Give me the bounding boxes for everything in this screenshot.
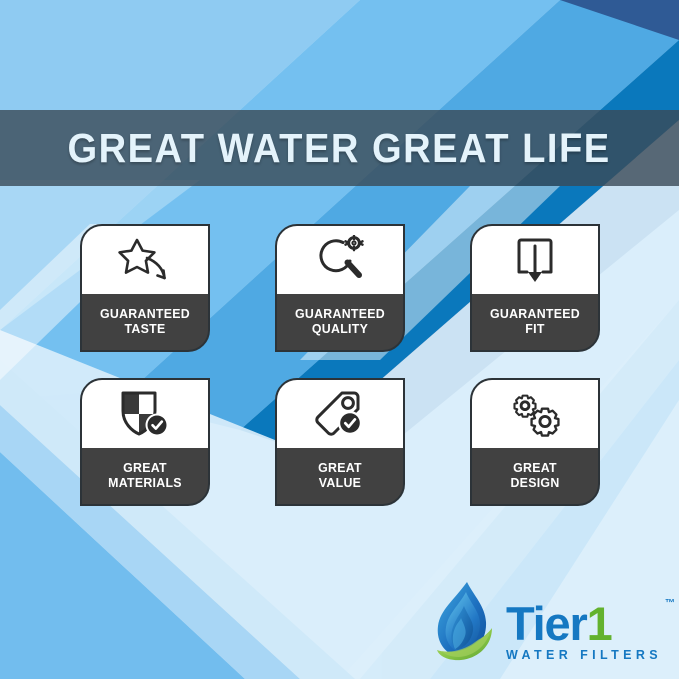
badge-label-line2: DESIGN: [510, 475, 559, 490]
logo-brand-text: Tier1: [506, 600, 664, 647]
logo-wordmark: Tier1 ™ WATER FILTERS: [506, 600, 664, 664]
badge-label: GREAT DESIGN: [475, 448, 595, 504]
headline-banner: GREAT WATER GREAT LIFE: [0, 110, 679, 186]
badge-great-value[interactable]: GREAT VALUE: [275, 378, 405, 506]
badge-label-line2: TASTE: [124, 321, 165, 336]
feature-badge-grid: GUARANTEED TASTE GUARANTEED QUALITY: [0, 224, 679, 506]
headline-text: GREAT WATER GREAT LIFE: [68, 125, 611, 172]
badge-label: GREAT VALUE: [280, 448, 400, 504]
box-down-arrow-icon: [472, 226, 598, 294]
logo-tagline: WATER FILTERS: [506, 648, 664, 662]
badge-label-line2: MATERIALS: [108, 475, 182, 490]
badge-label-line2: QUALITY: [311, 321, 367, 336]
trademark-symbol: ™: [665, 598, 675, 609]
badge-label: GUARANTEED QUALITY: [280, 294, 400, 350]
badge-guaranteed-quality[interactable]: GUARANTEED QUALITY: [275, 224, 405, 352]
badge-label-line1: GUARANTEED: [99, 306, 189, 321]
badge-label-line1: GREAT: [513, 460, 557, 475]
badge-label: GUARANTEED TASTE: [85, 294, 205, 350]
brand-logo[interactable]: Tier1 ™ WATER FILTERS: [430, 578, 660, 664]
badge-great-materials[interactable]: GREAT MATERIALS: [80, 378, 210, 506]
badge-label-line1: GUARANTEED: [489, 306, 579, 321]
marketing-graphic: GREAT WATER GREAT LIFE GUARANTEED TASTE: [0, 0, 679, 679]
badge-label-line1: GUARANTEED: [294, 306, 384, 321]
badge-label-line2: FIT: [525, 321, 544, 336]
shooting-star-icon: [82, 226, 208, 294]
badge-guaranteed-taste[interactable]: GUARANTEED TASTE: [80, 224, 210, 352]
logo-brand-prefix: Tier: [506, 597, 587, 650]
two-gears-icon: [472, 380, 598, 448]
badge-label: GREAT MATERIALS: [85, 448, 205, 504]
badge-guaranteed-fit[interactable]: GUARANTEED FIT: [470, 224, 600, 352]
magnifier-gear-icon: [277, 226, 403, 294]
badge-label-line1: GREAT: [318, 460, 362, 475]
badge-label-line2: VALUE: [318, 475, 360, 490]
water-drop-leaf-icon: [430, 578, 504, 664]
price-tag-check-icon: [277, 380, 403, 448]
badge-label-line1: GREAT: [123, 460, 167, 475]
badge-label: GUARANTEED FIT: [475, 294, 595, 350]
shield-check-icon: [82, 380, 208, 448]
badge-great-design[interactable]: GREAT DESIGN: [470, 378, 600, 506]
logo-brand-numeral: 1: [587, 597, 612, 650]
